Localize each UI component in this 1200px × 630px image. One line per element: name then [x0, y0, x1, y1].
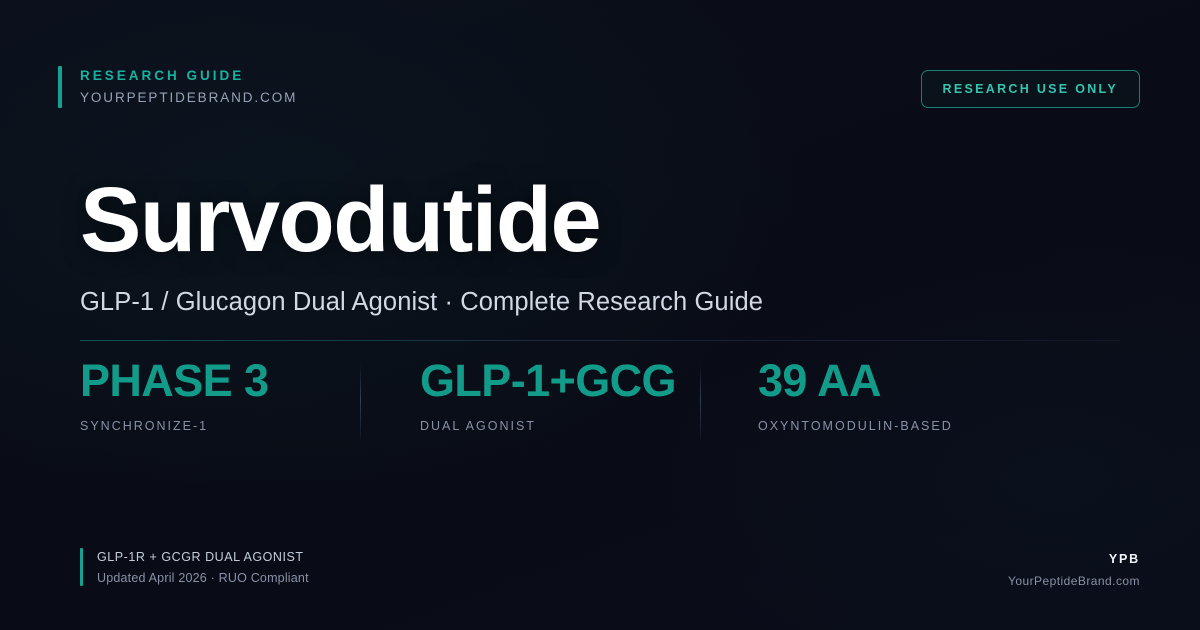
section-divider [80, 340, 1120, 341]
stat-separator-2 [700, 366, 701, 440]
stat-item: 39 AA OXYNTOMODULIN-BASED [758, 358, 953, 433]
stat-value: 39 AA [758, 358, 953, 403]
stat-value: GLP-1+GCG [420, 358, 676, 403]
footer-url-label: YourPeptideBrand.com [1008, 572, 1140, 590]
stat-label: OXYNTOMODULIN-BASED [758, 419, 953, 433]
stat-label: SYNCHRONIZE-1 [80, 419, 268, 433]
stat-separator-1 [360, 366, 361, 440]
banner-header: RESEARCH GUIDE YOURPEPTIDEBRAND.COM RESE… [58, 66, 1140, 108]
banner-footer: GLP-1R + GCGR DUAL AGONIST Updated April… [80, 548, 1140, 590]
stat-label: DUAL AGONIST [420, 419, 676, 433]
page-subtitle: GLP-1 / Glucagon Dual Agonist · Complete… [80, 286, 763, 319]
footer-text: GLP-1R + GCGR DUAL AGONIST Updated April… [97, 548, 309, 588]
footer-updated-label: Updated April 2026 · RUO Compliant [97, 569, 309, 588]
research-use-only-badge: RESEARCH USE ONLY [921, 70, 1140, 108]
stat-item: GLP-1+GCG DUAL AGONIST [420, 358, 676, 433]
accent-bar-icon [58, 66, 62, 108]
footer-logo: YPB [1008, 550, 1140, 569]
brand-text: RESEARCH GUIDE YOURPEPTIDEBRAND.COM [80, 66, 297, 108]
kicker-label: RESEARCH GUIDE [80, 67, 297, 85]
footer-mechanism-label: GLP-1R + GCGR DUAL AGONIST [97, 548, 309, 567]
footer-accent-bar-icon [80, 548, 83, 586]
stat-value: PHASE 3 [80, 358, 268, 403]
brand-block: RESEARCH GUIDE YOURPEPTIDEBRAND.COM [58, 66, 297, 108]
stat-item: PHASE 3 SYNCHRONIZE-1 [80, 358, 268, 433]
brand-domain-label: YOURPEPTIDEBRAND.COM [80, 88, 297, 108]
stats-row: PHASE 3 SYNCHRONIZE-1 GLP-1+GCG DUAL AGO… [80, 358, 1120, 444]
footer-left: GLP-1R + GCGR DUAL AGONIST Updated April… [80, 548, 309, 588]
page-title: Survodutide [80, 174, 600, 266]
footer-right: YPB YourPeptideBrand.com [1008, 548, 1140, 590]
hero-banner: RESEARCH GUIDE YOURPEPTIDEBRAND.COM RESE… [0, 0, 1200, 630]
